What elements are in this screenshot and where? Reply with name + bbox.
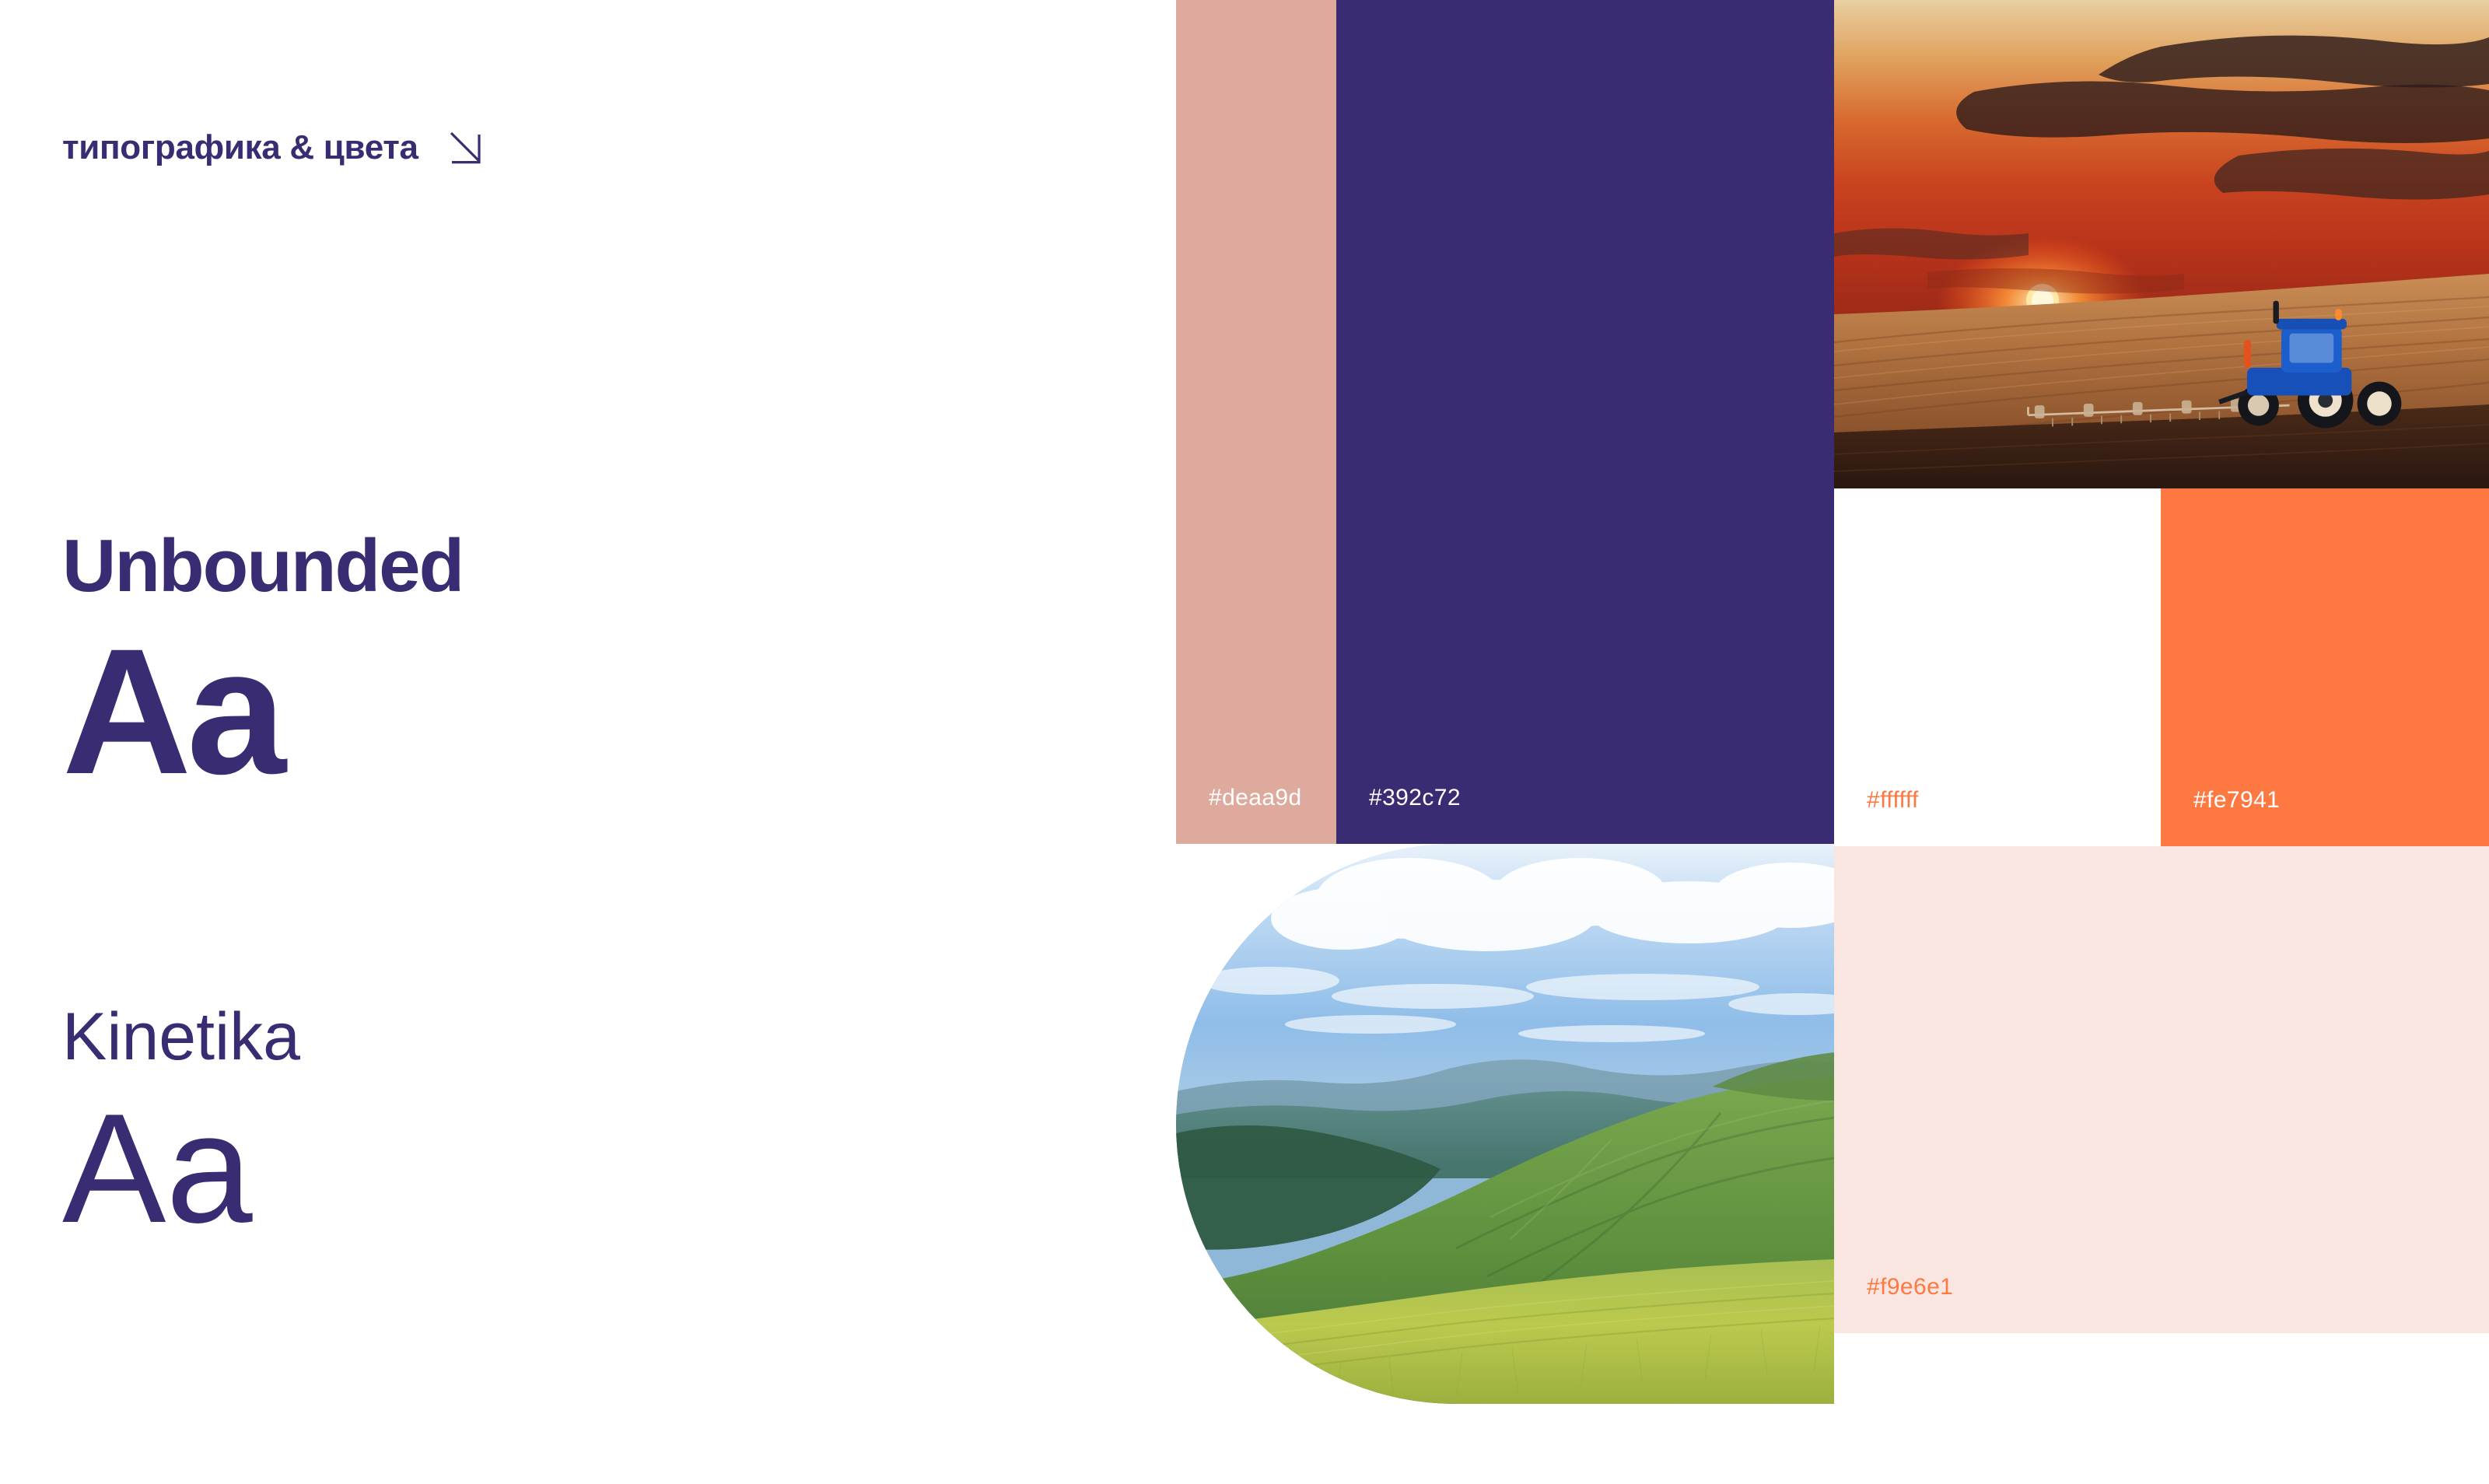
font-name-label: Unbounded <box>62 529 463 604</box>
color-swatch-purple[interactable]: #392c72 <box>1336 0 1834 844</box>
color-swatch-rose[interactable]: #deaa9d <box>1176 0 1336 844</box>
color-swatch-blush[interactable]: #f9e6e1 <box>1834 846 2489 1333</box>
color-swatch-white[interactable]: #ffffff <box>1834 488 2161 846</box>
font-specimen-kinetika: Kinetika Aa <box>62 1003 300 1251</box>
page-title: типографика & цвета <box>62 128 418 167</box>
brand-header: типографика & цвета <box>62 128 484 167</box>
font-name-label: Kinetika <box>62 1003 300 1070</box>
swatch-hex-label: #392c72 <box>1369 785 1461 811</box>
swatch-hex-label: #f9e6e1 <box>1867 1274 1953 1300</box>
photo-green-mountain-meadow <box>1176 844 1834 1404</box>
swatch-hex-label: #fe7941 <box>2193 787 2280 814</box>
swatch-hex-label: #ffffff <box>1867 787 1919 814</box>
color-swatch-orange[interactable]: #fe7941 <box>2161 488 2489 846</box>
swatch-hex-label: #deaa9d <box>1209 785 1302 811</box>
palette-grid: #deaa9d #392c72 <box>1176 0 2489 1484</box>
font-sample-aa: Aa <box>62 1087 300 1251</box>
arrow-down-right-icon[interactable] <box>448 130 484 166</box>
font-sample-aa: Aa <box>62 618 463 806</box>
typography-panel: типографика & цвета Unbounded Aa Kinetik… <box>0 0 1176 1484</box>
font-specimen-unbounded: Unbounded Aa <box>62 529 463 806</box>
photo-tractor-sunset-field <box>1834 0 2489 488</box>
